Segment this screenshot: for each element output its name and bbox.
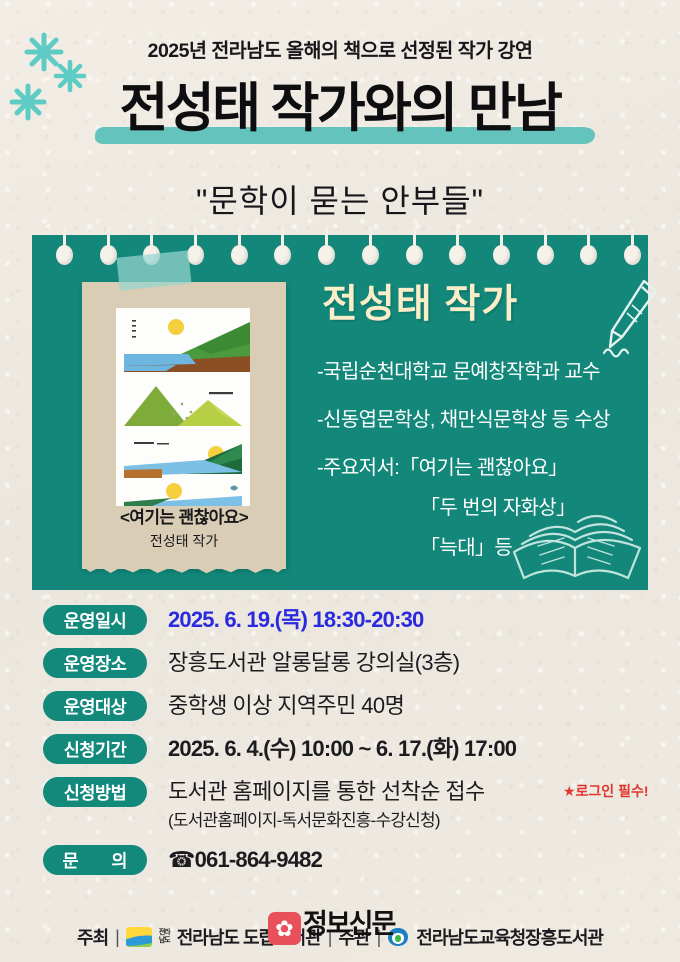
detail-subnote: (도서관홈페이지-독서문화진흥-수강신청) — [168, 806, 440, 831]
detail-value: 중학생 이상 지역주민 40명 — [168, 689, 404, 722]
detail-label: 신청기간 — [43, 734, 147, 764]
binding-ring-bead — [100, 245, 117, 265]
jeollanamdo-logo-icon — [126, 927, 152, 947]
login-required-note: ★로그인 필수! — [563, 781, 649, 801]
author-work: 「늑대」등 — [420, 531, 512, 560]
detail-label: 문 의 — [43, 845, 147, 875]
detail-label: 운영장소 — [43, 648, 147, 678]
poster-subtitle: "문학이 묻는 안부들" — [0, 176, 680, 222]
detail-row: 운영대상 중학생 이상 지역주민 40명 — [0, 689, 680, 732]
detail-value: 장흥도서관 알롱달롱 강의실(3층) — [168, 646, 459, 679]
event-details: 운영일시 2025. 6. 19.(목) 18:30-20:30 운영장소 장흥… — [0, 603, 680, 886]
book-card: <여기는 괜찮아요> 전성태 작가 — [82, 282, 286, 569]
book-cover-image — [116, 308, 250, 506]
page-title: 전성태 작가와의 만남 — [0, 74, 680, 144]
book-title: <여기는 괜찮아요> — [82, 503, 286, 528]
binding-ring-bead — [56, 245, 73, 265]
host-label: 주최 — [77, 924, 108, 950]
binding-ring-bead — [624, 245, 641, 265]
detail-row: 문 의 ☎061-864-9482 — [0, 843, 680, 886]
footer-separator: | — [328, 927, 332, 948]
author-credential: -국립순천대학교 문예창작학과 교수 — [317, 355, 600, 384]
binding-ring-bead — [449, 245, 466, 265]
open-book-icon — [502, 478, 652, 590]
detail-row: 신청방법 도서관 홈페이지를 통한 선착순 접수 ★로그인 필수! (도서관홈페… — [0, 775, 680, 843]
author-name: 전성태 작가 — [322, 273, 518, 329]
author-credential: -주요저서:「여기는 괜찮아요」 — [317, 451, 568, 480]
binding-ring-bead — [362, 245, 379, 265]
binding-ring-bead — [187, 245, 204, 265]
organizer-label: 주관 — [338, 924, 369, 950]
footer-separator: | — [115, 927, 119, 948]
footer-separator: | — [377, 927, 381, 948]
education-office-logo-icon — [387, 926, 409, 948]
jeollanamdo-logo-text: 전라남도 — [159, 929, 170, 945]
author-panel: <여기는 괜찮아요> 전성태 작가 전성태 작가 -국립순천대학교 문예창작학과… — [32, 235, 648, 590]
author-credential: -신동엽문학상, 채만식문학상 등 수상 — [317, 403, 610, 432]
detail-value: 2025. 6. 4.(수) 10:00 ~ 6. 17.(화) 17:00 — [168, 732, 516, 765]
footer: 주최 | 전라남도 전라남도 도립도서관 | 주관 | 전라남도교육청장흥도서관 — [0, 924, 680, 950]
book-author: 전성태 작가 — [82, 531, 286, 551]
poster-kicker: 2025년 전라남도 올해의 책으로 선정된 작가 강연 — [0, 34, 680, 63]
detail-value: 도서관 홈페이지를 통한 선착순 접수 — [168, 775, 485, 808]
detail-row: 신청기간 2025. 6. 4.(수) 10:00 ~ 6. 17.(화) 17… — [0, 732, 680, 775]
detail-label: 운영대상 — [43, 691, 147, 721]
pencil-icon — [598, 277, 662, 363]
book-caption: <여기는 괜찮아요> 전성태 작가 — [82, 503, 286, 551]
detail-label: 신청방법 — [43, 777, 147, 807]
binding-ring-bead — [406, 245, 423, 265]
detail-value: 2025. 6. 19.(목) 18:30-20:30 — [168, 603, 423, 636]
binding-ring-bead — [537, 245, 554, 265]
organizer-name: 전라남도교육청장흥도서관 — [416, 924, 603, 950]
binding-ring-bead — [274, 245, 291, 265]
binding-ring-bead — [493, 245, 510, 265]
detail-row: 운영일시 2025. 6. 19.(목) 18:30-20:30 — [0, 603, 680, 646]
detail-label: 운영일시 — [43, 605, 147, 635]
binding-ring-bead — [580, 245, 597, 265]
binding-ring-bead — [318, 245, 335, 265]
detail-row: 운영장소 장흥도서관 알롱달롱 강의실(3층) — [0, 646, 680, 689]
poster-title-wrap: 전성태 작가와의 만남 — [0, 74, 680, 146]
host-name: 전라남도 도립도서관 — [177, 924, 321, 950]
detail-value: ☎061-864-9482 — [168, 843, 322, 876]
binding-ring-bead — [231, 245, 248, 265]
